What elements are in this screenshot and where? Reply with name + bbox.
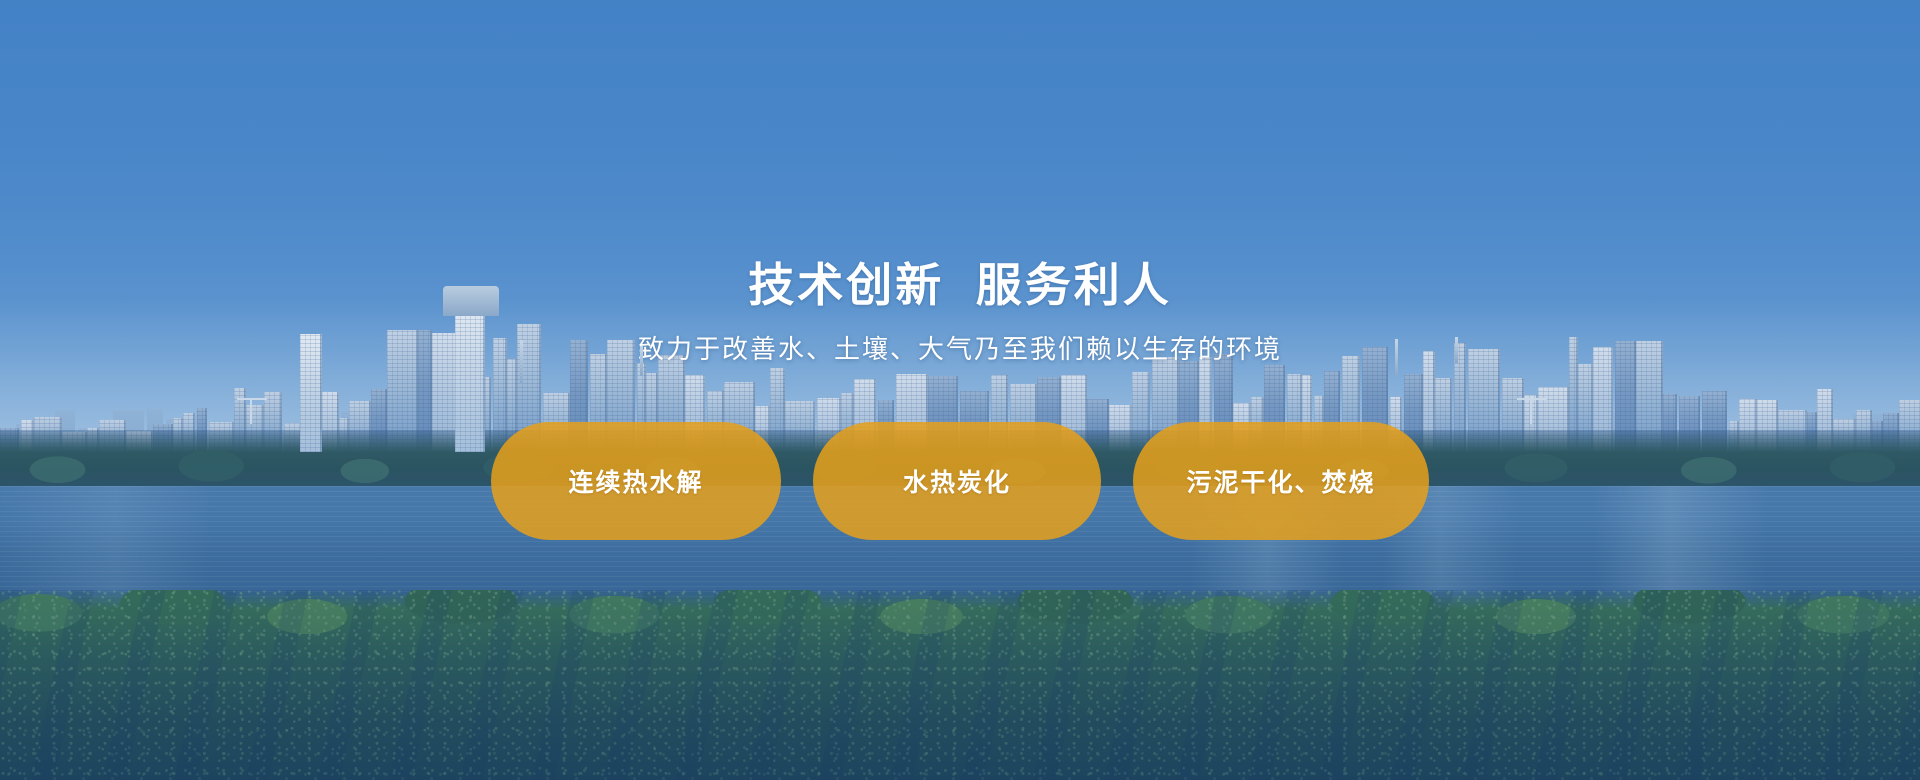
- hero-button-sludge-drying-incineration[interactable]: 污泥干化、焚烧: [1133, 422, 1429, 540]
- hero-banner: 技术创新 服务利人 致力于改善水、土壤、大气乃至我们赖以生存的环境 连续热水解 …: [0, 0, 1920, 780]
- hero-button-label: 水热炭化: [903, 463, 1011, 499]
- hero-content: 技术创新 服务利人 致力于改善水、土壤、大气乃至我们赖以生存的环境 连续热水解 …: [0, 0, 1920, 780]
- hero-button-label: 连续热水解: [568, 463, 703, 499]
- hero-button-row: 连续热水解 水热炭化 污泥干化、焚烧: [491, 422, 1429, 540]
- hero-button-continuous-thermal-hydrolysis[interactable]: 连续热水解: [491, 422, 781, 540]
- hero-subtitle: 致力于改善水、土壤、大气乃至我们赖以生存的环境: [638, 336, 1282, 362]
- hero-button-label: 污泥干化、焚烧: [1186, 463, 1375, 499]
- hero-title: 技术创新 服务利人: [748, 262, 1172, 308]
- hero-button-hydrothermal-carbonization[interactable]: 水热炭化: [813, 422, 1101, 540]
